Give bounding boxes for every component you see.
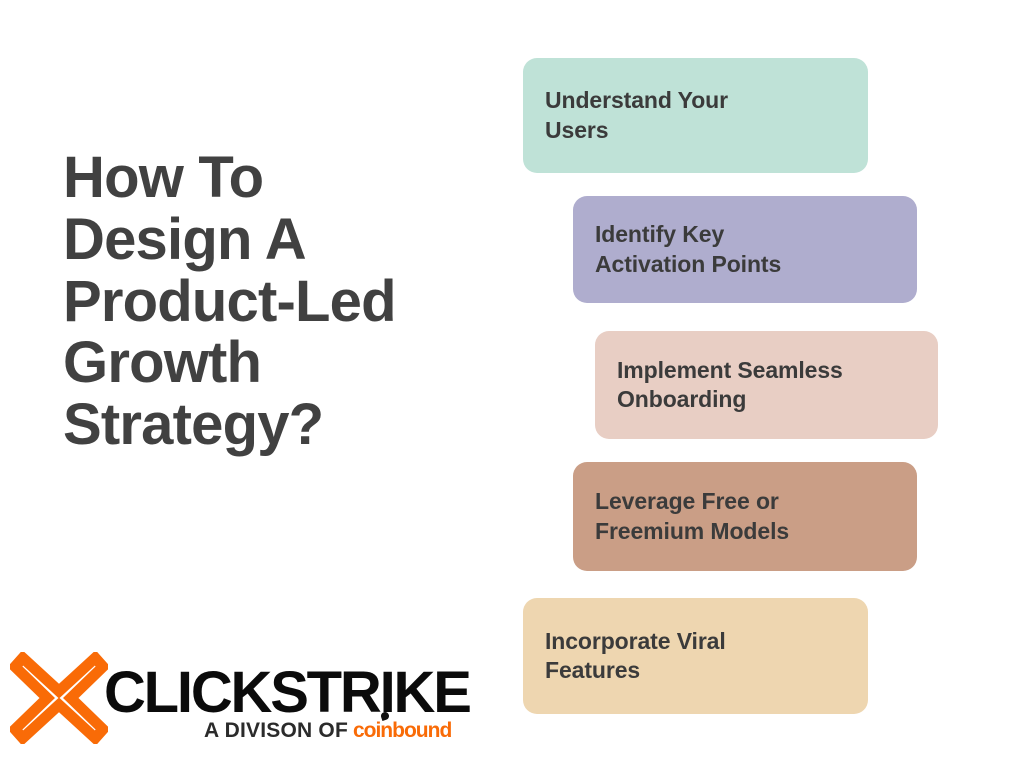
step-card[interactable]: Understand Your Users [523, 58, 868, 173]
step-card-label: Implement Seamless Onboarding [617, 356, 843, 415]
steps-card-stack: Understand Your Users Identify Key Activ… [0, 0, 1024, 768]
step-card[interactable]: Incorporate Viral Features [523, 598, 868, 714]
step-card-label: Identify Key Activation Points [595, 220, 781, 279]
step-card-label: Leverage Free or Freemium Models [595, 487, 789, 546]
step-card-label: Understand Your Users [545, 86, 728, 145]
step-card[interactable]: Leverage Free or Freemium Models [573, 462, 917, 571]
slide-canvas: How To Design A Product-Led Growth Strat… [0, 0, 1024, 768]
step-card[interactable]: Identify Key Activation Points [573, 196, 917, 303]
step-card-label: Incorporate Viral Features [545, 627, 726, 686]
step-card[interactable]: Implement Seamless Onboarding [595, 331, 938, 439]
